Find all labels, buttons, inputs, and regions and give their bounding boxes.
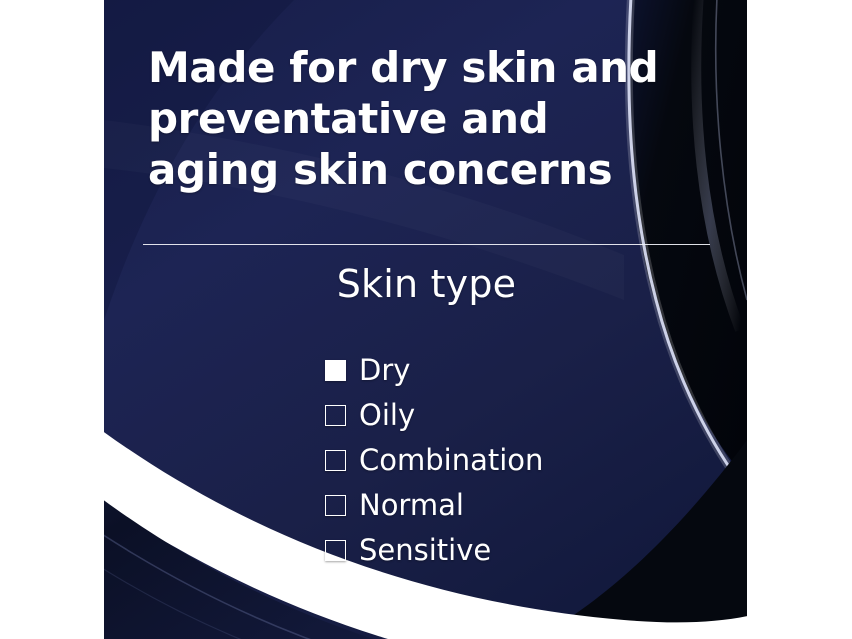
checkbox-icon[interactable] bbox=[325, 360, 346, 381]
list-item-label: Sensitive bbox=[359, 536, 491, 565]
list-item[interactable]: Normal bbox=[325, 483, 543, 528]
checkbox-icon[interactable] bbox=[325, 450, 346, 471]
section-title: Skin type bbox=[143, 262, 710, 306]
skin-type-option-list: Dry Oily Combination Normal Sensitive bbox=[325, 348, 543, 573]
list-item-label: Combination bbox=[359, 446, 543, 475]
page-title: Made for dry skin and preventative and a… bbox=[148, 42, 728, 196]
checkbox-icon[interactable] bbox=[325, 405, 346, 426]
list-item-label: Dry bbox=[359, 356, 410, 385]
divider bbox=[143, 244, 710, 245]
list-item[interactable]: Oily bbox=[325, 393, 543, 438]
list-item-label: Oily bbox=[359, 401, 415, 430]
checkbox-icon[interactable] bbox=[325, 495, 346, 516]
checkbox-icon[interactable] bbox=[325, 540, 346, 561]
list-item[interactable]: Sensitive bbox=[325, 528, 543, 573]
list-item-label: Normal bbox=[359, 491, 464, 520]
poster-canvas: Made for dry skin and preventative and a… bbox=[0, 0, 852, 639]
list-item[interactable]: Dry bbox=[325, 348, 543, 393]
list-item[interactable]: Combination bbox=[325, 438, 543, 483]
